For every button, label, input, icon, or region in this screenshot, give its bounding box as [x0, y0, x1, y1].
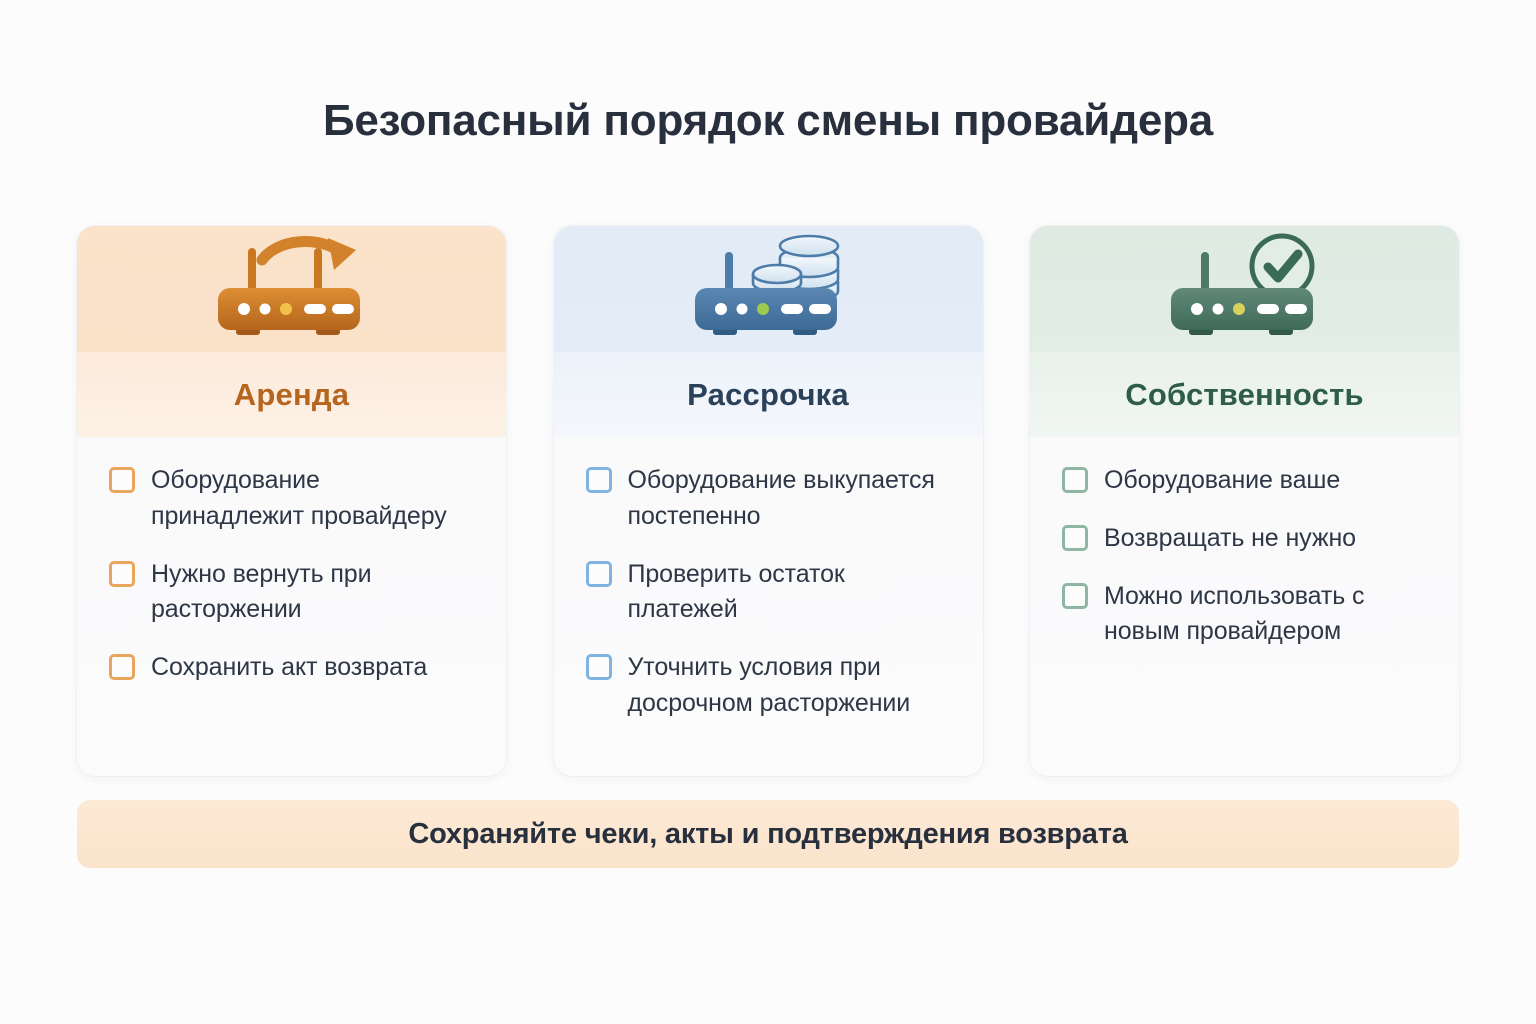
card-rent-icon-band	[77, 226, 506, 352]
footer-banner-text: Сохраняйте чеки, акты и подтверждения во…	[408, 818, 1127, 851]
list-item[interactable]: Оборудование принадлежит провайдеру	[109, 463, 476, 535]
infographic-page: Безопасный порядок смены провайдера	[0, 0, 1536, 1024]
card-rent-title: Аренда	[234, 377, 349, 413]
checkbox-icon[interactable]	[1062, 583, 1088, 609]
card-ownership-body: Оборудование ваше Возвращать не нужно Мо…	[1030, 437, 1459, 776]
list-item[interactable]: Сохранить акт возврата	[109, 650, 476, 686]
list-item[interactable]: Оборудование выкупается постепенно	[586, 463, 953, 535]
card-ownership-icon-band	[1030, 226, 1459, 352]
card-ownership: Собственность Оборудование ваше Возвраща…	[1030, 226, 1459, 776]
router-coins-icon	[681, 230, 856, 348]
card-installment-body: Оборудование выкупается постепенно Прове…	[554, 437, 983, 776]
list-item-label: Проверить остаток платежей	[628, 557, 953, 629]
checkbox-icon[interactable]	[109, 654, 135, 680]
list-item-label: Оборудование выкупается постепенно	[628, 463, 953, 535]
checkbox-icon[interactable]	[586, 467, 612, 493]
card-rent-body: Оборудование принадлежит провайдеру Нужн…	[77, 437, 506, 776]
list-item[interactable]: Можно использовать с новым провайдером	[1062, 579, 1429, 651]
checkbox-icon[interactable]	[1062, 467, 1088, 493]
router-return-arrow-icon	[204, 230, 379, 348]
list-item-label: Можно использовать с новым провайдером	[1104, 579, 1429, 651]
card-installment-icon-band	[554, 226, 983, 352]
list-item-label: Оборудование принадлежит провайдеру	[151, 463, 476, 535]
list-item-label: Уточнить условия при досрочном расторжен…	[628, 650, 953, 722]
page-title: Безопасный порядок смены провайдера	[0, 96, 1536, 146]
card-rent: Аренда Оборудование принадлежит провайде…	[77, 226, 506, 776]
list-item[interactable]: Нужно вернуть при расторжении	[109, 557, 476, 629]
card-installment: Рассрочка Оборудование выкупается постеп…	[554, 226, 983, 776]
list-item[interactable]: Возвращать не нужно	[1062, 521, 1429, 557]
list-item-label: Оборудование ваше	[1104, 463, 1340, 499]
card-installment-title-band: Рассрочка	[554, 352, 983, 437]
cards-row: Аренда Оборудование принадлежит провайде…	[77, 226, 1459, 776]
list-item[interactable]: Оборудование ваше	[1062, 463, 1429, 499]
checkbox-icon[interactable]	[586, 561, 612, 587]
checkbox-icon[interactable]	[1062, 525, 1088, 551]
list-item[interactable]: Проверить остаток платежей	[586, 557, 953, 629]
checkbox-icon[interactable]	[109, 467, 135, 493]
list-item-label: Нужно вернуть при расторжении	[151, 557, 476, 629]
checkbox-icon[interactable]	[109, 561, 135, 587]
card-ownership-title: Собственность	[1125, 377, 1363, 413]
list-item[interactable]: Уточнить условия при досрочном расторжен…	[586, 650, 953, 722]
card-installment-title: Рассрочка	[687, 377, 849, 413]
list-item-label: Возвращать не нужно	[1104, 521, 1356, 557]
footer-banner: Сохраняйте чеки, акты и подтверждения во…	[77, 800, 1459, 868]
router-check-icon	[1157, 230, 1332, 348]
list-item-label: Сохранить акт возврата	[151, 650, 427, 686]
checkbox-icon[interactable]	[586, 654, 612, 680]
card-rent-title-band: Аренда	[77, 352, 506, 437]
card-ownership-title-band: Собственность	[1030, 352, 1459, 437]
